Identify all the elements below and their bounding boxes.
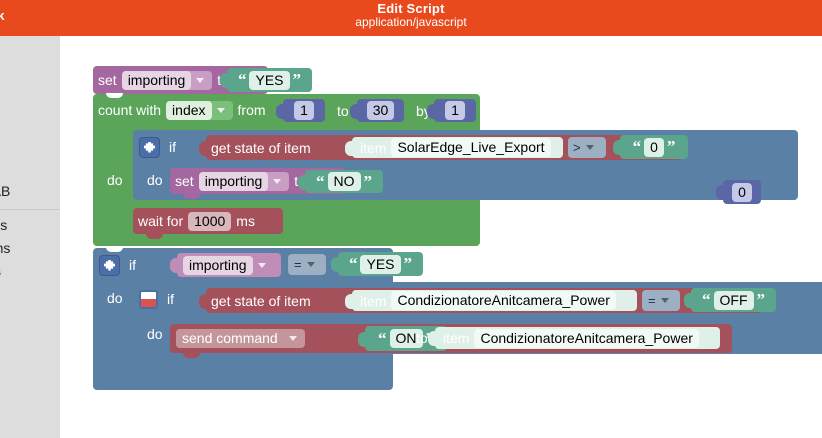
- open-quote-icon: “: [346, 259, 361, 269]
- if-label: if: [124, 257, 141, 273]
- block-text-zero[interactable]: “ 0 ”: [620, 135, 688, 159]
- close-quote-icon: ”: [754, 295, 769, 305]
- chevron-down-icon: [273, 179, 281, 184]
- item-label: item: [352, 140, 391, 156]
- block-plug: [298, 175, 306, 190]
- block-plug: [427, 104, 435, 119]
- operator-dropdown-gt[interactable]: >: [568, 137, 606, 158]
- block-plug: [276, 104, 284, 119]
- variable-name: importing: [199, 172, 269, 191]
- operator-symbol: >: [573, 140, 581, 155]
- page-subtitle: application/javascript: [0, 16, 822, 29]
- wait-unit-label: ms: [231, 213, 260, 229]
- set-label: set: [93, 72, 122, 88]
- block-plug: [345, 294, 353, 309]
- item-name[interactable]: CondizionatoreAnitcamera_Power: [474, 329, 698, 348]
- block-text-yes[interactable]: “ YES ”: [227, 68, 312, 92]
- number-value[interactable]: 1: [445, 101, 465, 120]
- block-item-condizionatore[interactable]: item CondizionatoreAnitcamera_Power: [352, 290, 637, 311]
- block-plug: [428, 331, 436, 346]
- text-value[interactable]: YES: [249, 71, 289, 90]
- count-with-label: count with: [93, 102, 166, 118]
- get-state-label: get state of item: [206, 293, 316, 309]
- chevron-down-icon: [196, 78, 204, 83]
- wait-for-label: wait for: [133, 213, 188, 229]
- block-variable-get-importing[interactable]: importing: [177, 253, 281, 277]
- chevron-down-icon: [307, 262, 315, 267]
- block-if-importing-tail: [93, 354, 143, 382]
- block-orphan-number[interactable]: 0: [723, 180, 761, 204]
- mutator-gear-icon[interactable]: [99, 255, 120, 276]
- block-plug: [684, 293, 692, 308]
- block-plug: [199, 294, 207, 309]
- do-label: do: [102, 172, 128, 188]
- toolbox-item-color[interactable]: lor: [0, 157, 60, 180]
- block-plug: [350, 104, 358, 119]
- toolbox-item-variables[interactable]: riables: [0, 214, 60, 237]
- block-item-solaredge[interactable]: item SolarEdge_Live_Export: [352, 137, 563, 158]
- chevron-down-icon: [217, 108, 225, 113]
- close-quote-icon: ”: [401, 259, 416, 269]
- chevron-down-icon: [586, 145, 594, 150]
- item-label: item: [352, 293, 391, 309]
- loop-variable: index: [166, 101, 211, 120]
- block-notch-top: [106, 93, 123, 98]
- toolbox-separator: [0, 209, 60, 210]
- chevron-down-icon: [258, 263, 266, 268]
- toolbox-item-logic[interactable]: gic: [0, 42, 60, 65]
- chevron-down-icon: [661, 298, 669, 303]
- open-quote-icon: “: [313, 177, 328, 187]
- variable-name: importing: [183, 256, 253, 275]
- block-wait-for[interactable]: wait for 1000 ms: [133, 208, 283, 234]
- block-plug: [199, 141, 207, 156]
- block-plug: [613, 140, 621, 155]
- toolbox-item-libraries[interactable]: raries: [0, 260, 60, 283]
- mutator-expanded-icon[interactable]: [139, 290, 158, 309]
- page-header: ck Edit Script application/javascript: [0, 0, 822, 36]
- send-command-label: send command: [176, 329, 284, 348]
- block-plug: [716, 185, 724, 200]
- close-quote-icon: ”: [290, 75, 305, 85]
- block-plug: [345, 141, 353, 156]
- block-text-off[interactable]: “ OFF ”: [691, 288, 776, 312]
- do-label: do: [142, 326, 168, 342]
- open-quote-icon: “: [375, 334, 390, 344]
- if-label: if: [162, 291, 179, 307]
- text-value[interactable]: YES: [360, 255, 400, 274]
- block-plug: [220, 73, 228, 88]
- variable-dropdown-index[interactable]: index: [166, 101, 232, 120]
- block-plug: [331, 257, 339, 272]
- variable-dropdown-importing[interactable]: importing: [199, 172, 290, 191]
- close-quote-icon: ”: [361, 177, 376, 187]
- block-plug: [170, 258, 178, 273]
- block-number-from[interactable]: 1: [283, 99, 325, 122]
- toolbox-item-loops[interactable]: ops: [0, 65, 60, 88]
- block-number-by[interactable]: 1: [434, 99, 476, 122]
- from-label: from: [233, 102, 271, 118]
- block-text-yes-2[interactable]: “ YES ”: [338, 252, 423, 276]
- operator-dropdown-eq[interactable]: =: [288, 254, 326, 275]
- close-quote-icon: ”: [664, 142, 679, 152]
- item-label: item: [435, 330, 474, 346]
- number-value[interactable]: 1: [294, 101, 314, 120]
- block-notch: [183, 194, 200, 199]
- block-plug: [358, 332, 366, 347]
- do-label: do: [142, 172, 168, 188]
- text-value[interactable]: OFF: [714, 291, 754, 310]
- edit-script-page: ck Edit Script application/javascript gi…: [0, 0, 822, 438]
- operator-symbol: =: [294, 257, 302, 272]
- mutator-gear-icon[interactable]: [139, 137, 160, 158]
- send-command-dropdown[interactable]: send command: [176, 329, 305, 348]
- toolbox-item-functions[interactable]: nctions: [0, 237, 60, 260]
- toolbox-item-lists[interactable]: ts: [0, 134, 60, 157]
- toolbox-item-openhab[interactable]: enHAB: [0, 180, 60, 203]
- variable-dropdown-importing[interactable]: importing: [122, 71, 213, 90]
- open-quote-icon: “: [699, 295, 714, 305]
- get-state-label: get state of item: [206, 140, 316, 156]
- number-value[interactable]: 0: [732, 183, 752, 202]
- operator-symbol: =: [648, 293, 656, 308]
- wait-value[interactable]: 1000: [188, 212, 231, 231]
- block-item-condizionatore-2[interactable]: item CondizionatoreAnitcamera_Power: [435, 327, 720, 349]
- page-title: Edit Script: [0, 2, 822, 16]
- chevron-down-icon: [289, 336, 297, 341]
- toolbox-item-text[interactable]: xt: [0, 111, 60, 134]
- header-titles: Edit Script application/javascript: [0, 2, 822, 28]
- block-number-to[interactable]: 30: [357, 99, 404, 122]
- number-value[interactable]: 30: [367, 101, 395, 120]
- block-notch: [183, 353, 200, 358]
- if-label: if: [164, 139, 181, 155]
- blockly-workspace[interactable]: set importing to “ YES ” count with: [60, 36, 822, 438]
- open-quote-icon: “: [235, 75, 250, 85]
- set-label: set: [170, 173, 199, 189]
- variable-name: importing: [122, 71, 192, 90]
- text-value[interactable]: 0: [644, 138, 664, 157]
- text-value[interactable]: NO: [328, 172, 361, 191]
- do-label: do: [102, 290, 128, 306]
- blockly-toolbox[interactable]: gic ops th xt ts lor enHAB riables nctio…: [0, 36, 60, 438]
- open-quote-icon: “: [630, 142, 645, 152]
- operator-dropdown-eq-2[interactable]: =: [642, 290, 680, 311]
- toolbox-item-math[interactable]: th: [0, 88, 60, 111]
- block-text-no[interactable]: “ NO ”: [305, 170, 383, 193]
- item-name[interactable]: SolarEdge_Live_Export: [391, 138, 550, 157]
- block-notch: [146, 234, 163, 239]
- item-name[interactable]: CondizionatoreAnitcamera_Power: [391, 291, 615, 310]
- block-notch-top: [106, 247, 123, 252]
